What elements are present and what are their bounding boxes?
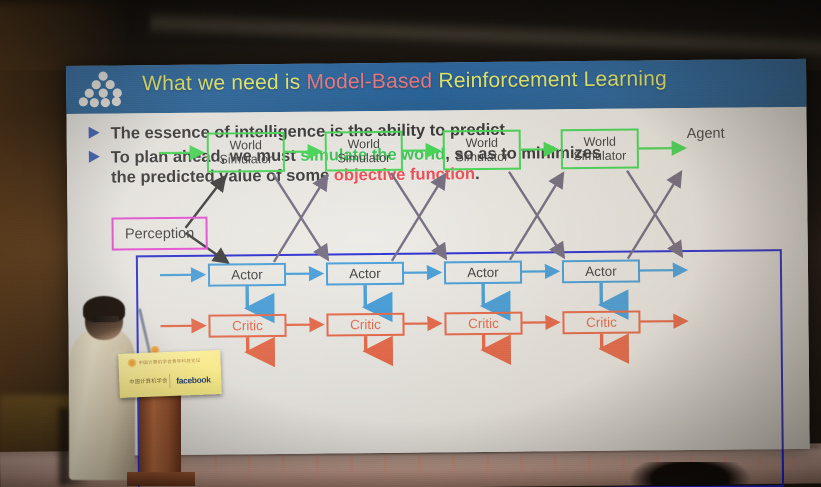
presenter-glasses bbox=[93, 316, 119, 322]
agent-label: Agent bbox=[687, 126, 725, 142]
node-actor-3-label: Actor bbox=[467, 265, 499, 279]
title-highlight: Model-Based bbox=[306, 69, 432, 93]
node-actor-2: Actor bbox=[326, 262, 404, 286]
podium-base bbox=[127, 472, 195, 486]
agent-label-text: Agent bbox=[687, 126, 725, 142]
podium-sign-chinese: 中国计算机学会青年科技论坛 bbox=[138, 358, 200, 366]
node-actor-1: Actor bbox=[208, 263, 286, 287]
node-actor-2-label: Actor bbox=[349, 266, 381, 280]
node-ws-1-line2: Simulator bbox=[219, 152, 272, 167]
node-ws-4-line1: World bbox=[583, 135, 616, 149]
slide-title: What we need is Model-Based Reinforcemen… bbox=[142, 67, 667, 96]
node-critic-2: Critic bbox=[326, 313, 404, 337]
node-ws-2-line1: World bbox=[347, 137, 380, 151]
node-ws-2-line2: Simulator bbox=[337, 151, 390, 166]
slide-title-bar: What we need is Model-Based Reinforcemen… bbox=[66, 59, 806, 114]
photo-scene: What we need is Model-Based Reinforcemen… bbox=[0, 0, 821, 487]
node-perception-label: Perception bbox=[125, 226, 194, 241]
node-critic-1: Critic bbox=[208, 314, 286, 338]
node-ws-4-line2: Simulator bbox=[573, 149, 626, 164]
node-actor-3: Actor bbox=[444, 261, 522, 285]
node-ws-3-line2: Simulator bbox=[455, 150, 508, 165]
network-triangle-logo-icon bbox=[78, 70, 134, 111]
node-actor-4-label: Actor bbox=[585, 264, 617, 278]
title-part-2: Reinforcement Learning bbox=[432, 67, 667, 92]
node-ws-1-line1: World bbox=[229, 138, 262, 152]
node-critic-2-label: Critic bbox=[350, 317, 381, 331]
podium-sign-org: 中国计算机学会 bbox=[129, 377, 168, 385]
node-ws-3-line1: World bbox=[465, 136, 498, 150]
node-critic-3: Critic bbox=[444, 312, 522, 336]
podium-sign: 中国计算机学会青年科技论坛 中国计算机学会 facebook bbox=[118, 350, 222, 398]
podium-sign-brand: facebook bbox=[176, 374, 211, 385]
node-world-simulator-3: World Simulator bbox=[443, 130, 521, 171]
node-world-simulator-1: World Simulator bbox=[207, 132, 285, 173]
node-actor-4: Actor bbox=[562, 260, 640, 284]
presenter-area: 中国计算机学会青年科技论坛 中国计算机学会 facebook bbox=[55, 288, 185, 487]
sun-logo-icon bbox=[127, 358, 136, 367]
podium-sign-divider bbox=[169, 374, 171, 388]
podium-column bbox=[139, 388, 181, 480]
node-world-simulator-2: World Simulator bbox=[325, 131, 403, 172]
node-critic-3-label: Critic bbox=[468, 316, 499, 330]
node-world-simulator-4: World Simulator bbox=[561, 129, 639, 170]
node-actor-1-label: Actor bbox=[231, 268, 263, 282]
node-critic-4: Critic bbox=[562, 310, 640, 334]
node-perception: Perception bbox=[111, 217, 207, 251]
node-critic-1-label: Critic bbox=[232, 319, 263, 333]
node-critic-4-label: Critic bbox=[586, 315, 617, 329]
title-part-1: What we need is bbox=[142, 71, 306, 96]
